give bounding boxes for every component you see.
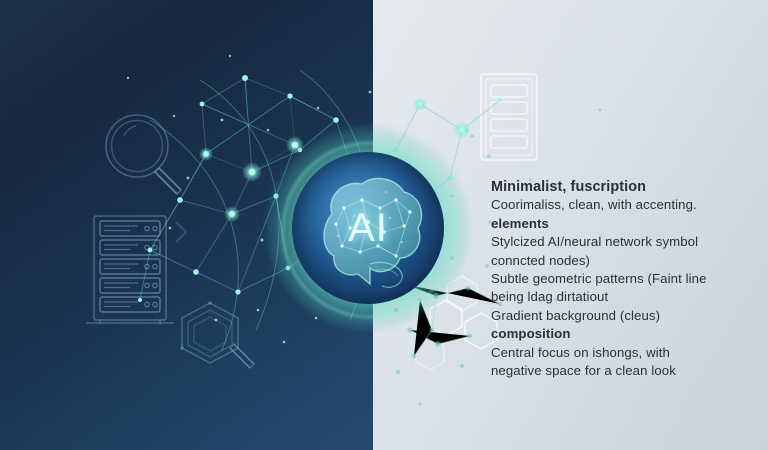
hexagon-magnifier-icon xyxy=(180,301,254,368)
ai-label: AI xyxy=(292,152,444,304)
text-line-4: conncted nodes) xyxy=(491,252,706,270)
chevron-icon xyxy=(176,222,186,242)
text-line-composition-heading: composition xyxy=(491,325,706,343)
description-text-block: Minimalist, fuscription Coorimaliss, cle… xyxy=(491,178,706,380)
text-line-9: Central focus on ishongs, with xyxy=(491,344,706,362)
text-line-6: being ldag dirtatiout xyxy=(491,288,706,306)
text-line-5: Subtle geometric patterns (Faint line xyxy=(491,270,706,288)
text-line-subtitle: Coorimaliss, clean, with accenting. xyxy=(491,196,706,214)
text-line-elements-heading: elements xyxy=(491,215,706,233)
magnifier-icon xyxy=(106,115,181,194)
ai-orb[interactable]: AI xyxy=(292,152,444,304)
text-line-3: Stylcized AI/neural network symbol xyxy=(491,233,706,251)
text-line-title: Minimalist, fuscription xyxy=(491,178,706,196)
poster-canvas: AI Minimalist, fuscription Coorimaliss, … xyxy=(0,0,768,450)
document-server-icon xyxy=(481,74,537,160)
text-line-10: negative space for a clean look xyxy=(491,362,706,380)
text-line-7: Gradient background (cleus) xyxy=(491,307,706,325)
